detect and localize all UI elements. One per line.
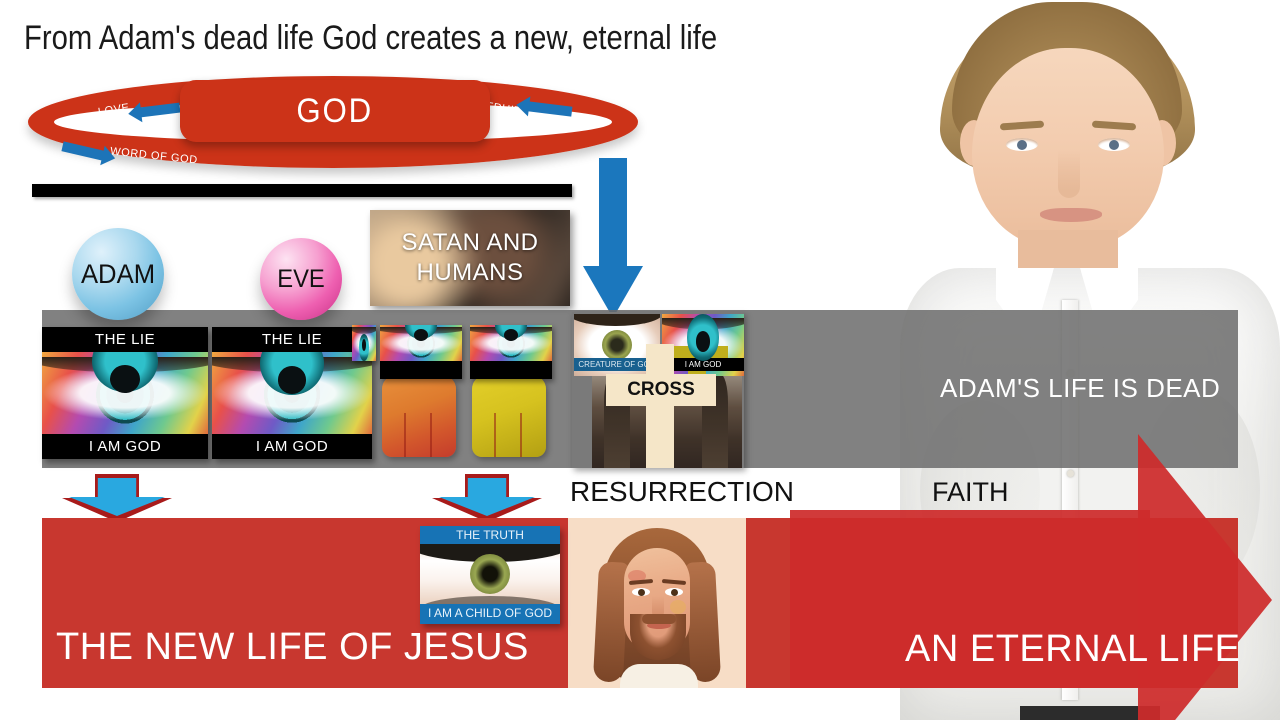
eyelid bbox=[574, 314, 660, 326]
satan-and-humans-panel: SATAN AND HUMANS bbox=[370, 210, 570, 306]
cream-cross-horizontal: CROSS bbox=[606, 374, 716, 406]
eye-image bbox=[470, 325, 552, 361]
figure-leg bbox=[430, 413, 432, 457]
truth-eye-image bbox=[420, 544, 560, 604]
pupil bbox=[110, 365, 140, 393]
truth-card-bottom-label: I AM A CHILD OF GOD bbox=[420, 604, 560, 622]
adams-life-is-dead-label: ADAM'S LIFE IS DEAD bbox=[940, 373, 1220, 404]
jesus-blush-right bbox=[670, 600, 686, 614]
mouth bbox=[1040, 208, 1102, 222]
pupil bbox=[504, 329, 519, 341]
mini-lie-card-1: I AM GOD bbox=[380, 325, 462, 379]
lie-card-adam: THE LIE I AM GOD bbox=[42, 327, 208, 459]
adam-sphere: ADAM bbox=[72, 228, 164, 320]
slide-canvas: From Adam's dead life God creates a new,… bbox=[0, 0, 1280, 720]
pupil bbox=[278, 366, 307, 394]
arrow-down-icon bbox=[583, 158, 643, 318]
pupil-right bbox=[1109, 140, 1119, 150]
nose bbox=[1058, 150, 1080, 198]
eyelash-bottom bbox=[420, 596, 560, 604]
cream-cross-vertical bbox=[646, 344, 674, 468]
truth-card-top-label: THE TRUTH bbox=[420, 526, 560, 544]
lie-card-bottom-label: I AM GOD bbox=[212, 434, 372, 459]
arrow-down-icon-right bbox=[432, 474, 542, 522]
human-figure-orange bbox=[382, 375, 456, 457]
jesus-pupil-left bbox=[638, 589, 645, 596]
arrow-down-icon-left bbox=[62, 474, 172, 522]
truth-card: THE TRUTH I AM A CHILD OF GOD bbox=[420, 526, 560, 624]
iris bbox=[470, 554, 510, 594]
jesus-pupil-right bbox=[671, 589, 678, 596]
god-box: GOD bbox=[180, 80, 490, 142]
eye-image bbox=[352, 325, 376, 361]
lie-card-top-label: THE LIE bbox=[212, 327, 372, 352]
new-life-of-jesus-label: THE NEW LIFE OF JESUS bbox=[56, 626, 529, 669]
big-red-arrow-icon bbox=[790, 434, 1272, 720]
figure-leg bbox=[494, 413, 496, 457]
god-label: GOD bbox=[297, 92, 374, 131]
cross-label: CROSS bbox=[627, 379, 695, 401]
arrow-shaft bbox=[599, 158, 627, 270]
eve-sphere: EVE bbox=[260, 238, 342, 320]
mini-card-partial bbox=[352, 325, 376, 361]
lie-card-top-label: THE LIE bbox=[42, 327, 208, 352]
resurrection-label: RESURRECTION bbox=[570, 476, 794, 508]
lie-card-bottom-label: I AM GOD bbox=[42, 434, 208, 459]
page-title: From Adam's dead life God creates a new,… bbox=[24, 18, 717, 58]
eye-image bbox=[380, 325, 462, 361]
arrow-head bbox=[1138, 434, 1272, 720]
arrow-fill bbox=[439, 478, 535, 516]
black-divider-bar bbox=[32, 184, 572, 197]
jesus-robe bbox=[620, 664, 698, 688]
satan-and-humans-label: SATAN AND HUMANS bbox=[370, 228, 570, 288]
mini-lie-card-2: I AM GOD bbox=[470, 325, 552, 379]
eye-image bbox=[42, 352, 208, 434]
mini-card-label: I AM GOD bbox=[470, 361, 552, 379]
jesus-portrait bbox=[568, 518, 746, 688]
pupil-left bbox=[1017, 140, 1027, 150]
eye-image bbox=[212, 352, 372, 434]
cross-panel: CREATURE OF GOD I AM GOD CROSS bbox=[572, 312, 744, 468]
eve-label: EVE bbox=[277, 265, 325, 294]
jesus-hair-right bbox=[685, 561, 721, 682]
pupil bbox=[414, 329, 429, 341]
mini-card-label: I AM GOD bbox=[380, 361, 462, 379]
adam-label: ADAM bbox=[81, 259, 155, 290]
human-figure-yellow bbox=[472, 375, 546, 457]
lie-card-eve: THE LIE I AM GOD bbox=[212, 327, 372, 459]
figure-leg bbox=[520, 413, 522, 457]
arrow-fill bbox=[69, 478, 165, 516]
iris bbox=[602, 330, 632, 360]
figure-leg bbox=[404, 413, 406, 457]
jesus-moustache bbox=[642, 614, 676, 624]
eternal-life-label: AN ETERNAL LIFE bbox=[905, 628, 1241, 671]
